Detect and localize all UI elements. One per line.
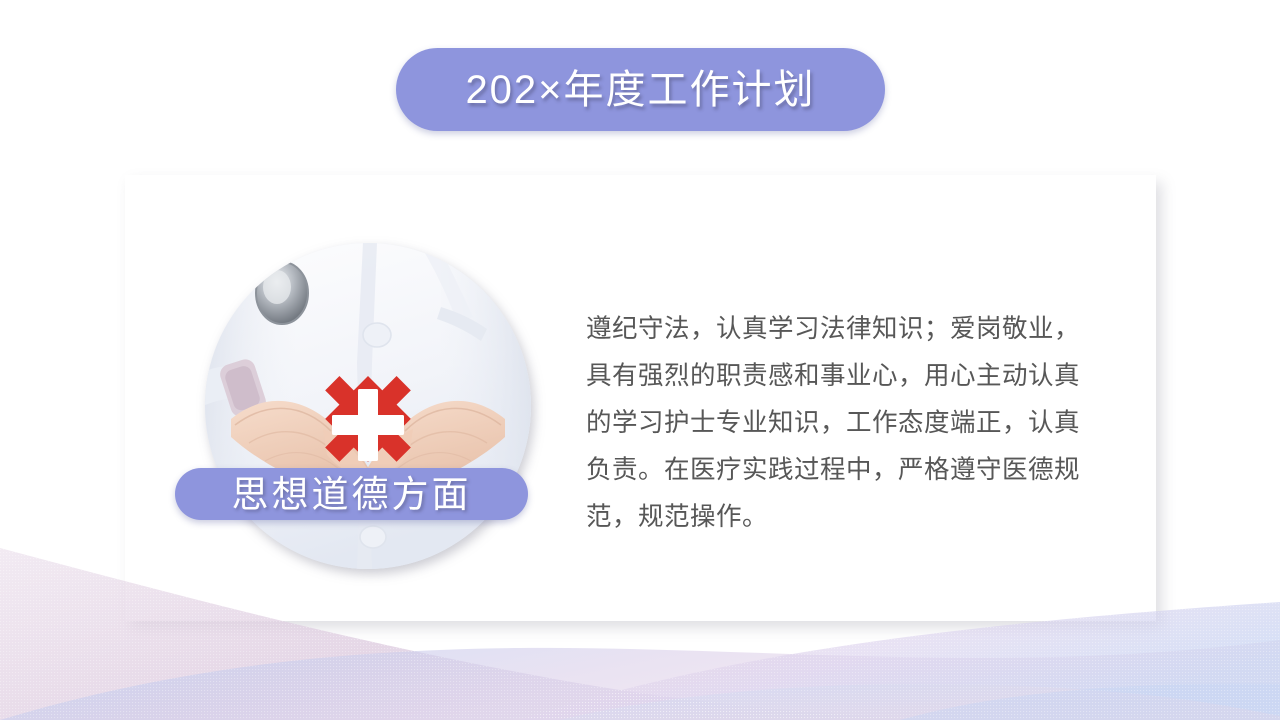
- status-badge: 思想道德方面: [175, 468, 528, 520]
- paragraph-line: 负责。在医疗实践过程中，严格遵守医德规: [586, 447, 1110, 494]
- medical-cross-icon: [325, 376, 411, 462]
- slide-root: 202×年度工作计划: [0, 0, 1280, 720]
- paragraph-line: 具有强烈的职责感和事业心，用心主动认真: [586, 353, 1110, 400]
- photo-circle: [205, 243, 531, 569]
- photo-badge-label: 思想道德方面: [232, 476, 472, 513]
- paragraph-line: 遵纪守法，认真学习法律知识；爱岗敬业，: [586, 306, 1110, 353]
- nurse-heart-hands-photo: [205, 243, 531, 569]
- slide-title-pill: 202×年度工作计划: [396, 48, 885, 131]
- paragraph-line: 范，规范操作。: [586, 494, 1110, 541]
- paragraph-line: 的学习护士专业知识，工作态度端正，认真: [586, 400, 1110, 447]
- page-title: 202×年度工作计划: [465, 70, 815, 110]
- body-paragraph: 遵纪守法，认真学习法律知识；爱岗敬业， 具有强烈的职责感和事业心，用心主动认真 …: [586, 306, 1110, 541]
